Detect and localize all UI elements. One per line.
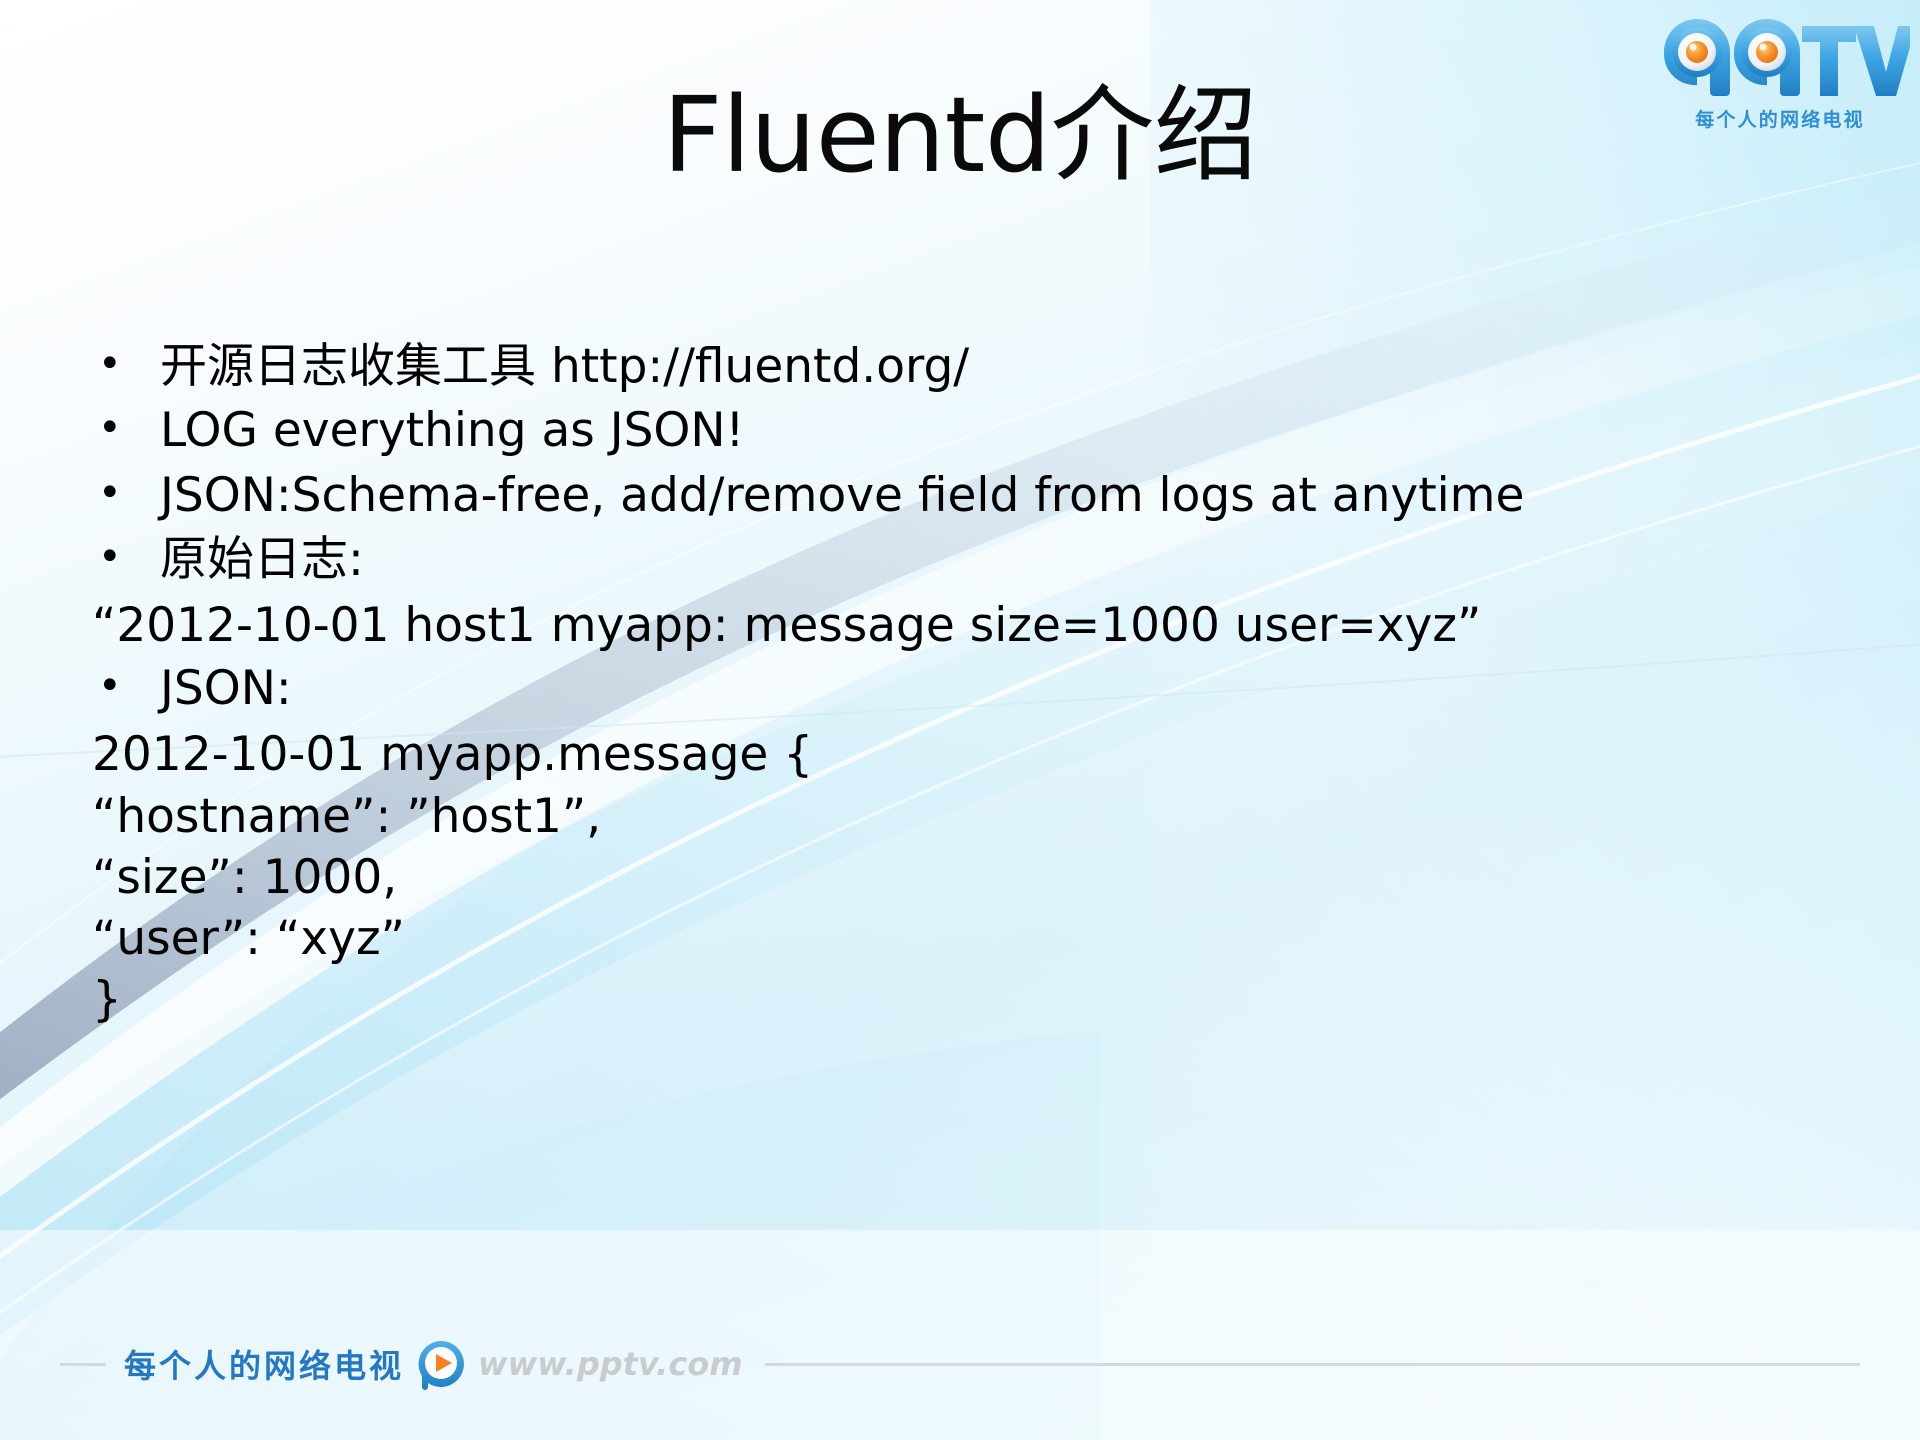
slide-body: • 开源日志收集工具 http://fluentd.org/ • LOG eve… — [92, 338, 1852, 1030]
footer-url: www.pptv.com — [478, 1345, 743, 1383]
footer-dash — [60, 1363, 106, 1366]
slide-canvas: 每个人的网络电视 Fluentd介绍 • 开源日志收集工具 http://flu… — [0, 0, 1920, 1440]
raw-log-text: “2012-10-01 host1 myapp: message size=10… — [92, 595, 1852, 656]
json-line: } — [92, 969, 1852, 1030]
json-line: “size”: 1000, — [92, 847, 1852, 908]
bullet-item: • 原始日志: — [92, 531, 1852, 589]
bullet-marker: • — [92, 660, 160, 713]
bullet-item: • JSON:Schema-free, add/remove field fro… — [92, 467, 1852, 525]
footer-rule — [765, 1363, 1860, 1366]
bullet-label: LOG everything as JSON! — [160, 402, 1852, 460]
bullet-label: JSON:Schema-free, add/remove field from … — [160, 467, 1852, 525]
bullet-marker: • — [92, 531, 160, 584]
bullet-item: • 开源日志收集工具 http://fluentd.org/ — [92, 338, 1852, 396]
slide-footer: 每个人的网络电视 www.pptv.com — [60, 1332, 1860, 1396]
footer-tagline: 每个人的网络电视 — [124, 1341, 404, 1387]
bullet-item-json: • JSON: — [92, 660, 1852, 718]
bullet-label: 开源日志收集工具 http://fluentd.org/ — [160, 338, 1852, 396]
play-button-icon — [414, 1338, 466, 1390]
bullet-marker: • — [92, 467, 160, 520]
json-line: “user”: “xyz” — [92, 908, 1852, 969]
bullet-label: 原始日志: — [160, 531, 1852, 589]
json-line: “hostname”: ”host1”, — [92, 786, 1852, 847]
bullet-marker: • — [92, 338, 160, 391]
bullet-label: JSON: — [160, 660, 1852, 718]
bullet-marker: • — [92, 402, 160, 455]
bullet-item: • LOG everything as JSON! — [92, 402, 1852, 460]
slide-title: Fluentd介绍 — [0, 74, 1920, 197]
json-line: 2012-10-01 myapp.message { — [92, 724, 1852, 785]
